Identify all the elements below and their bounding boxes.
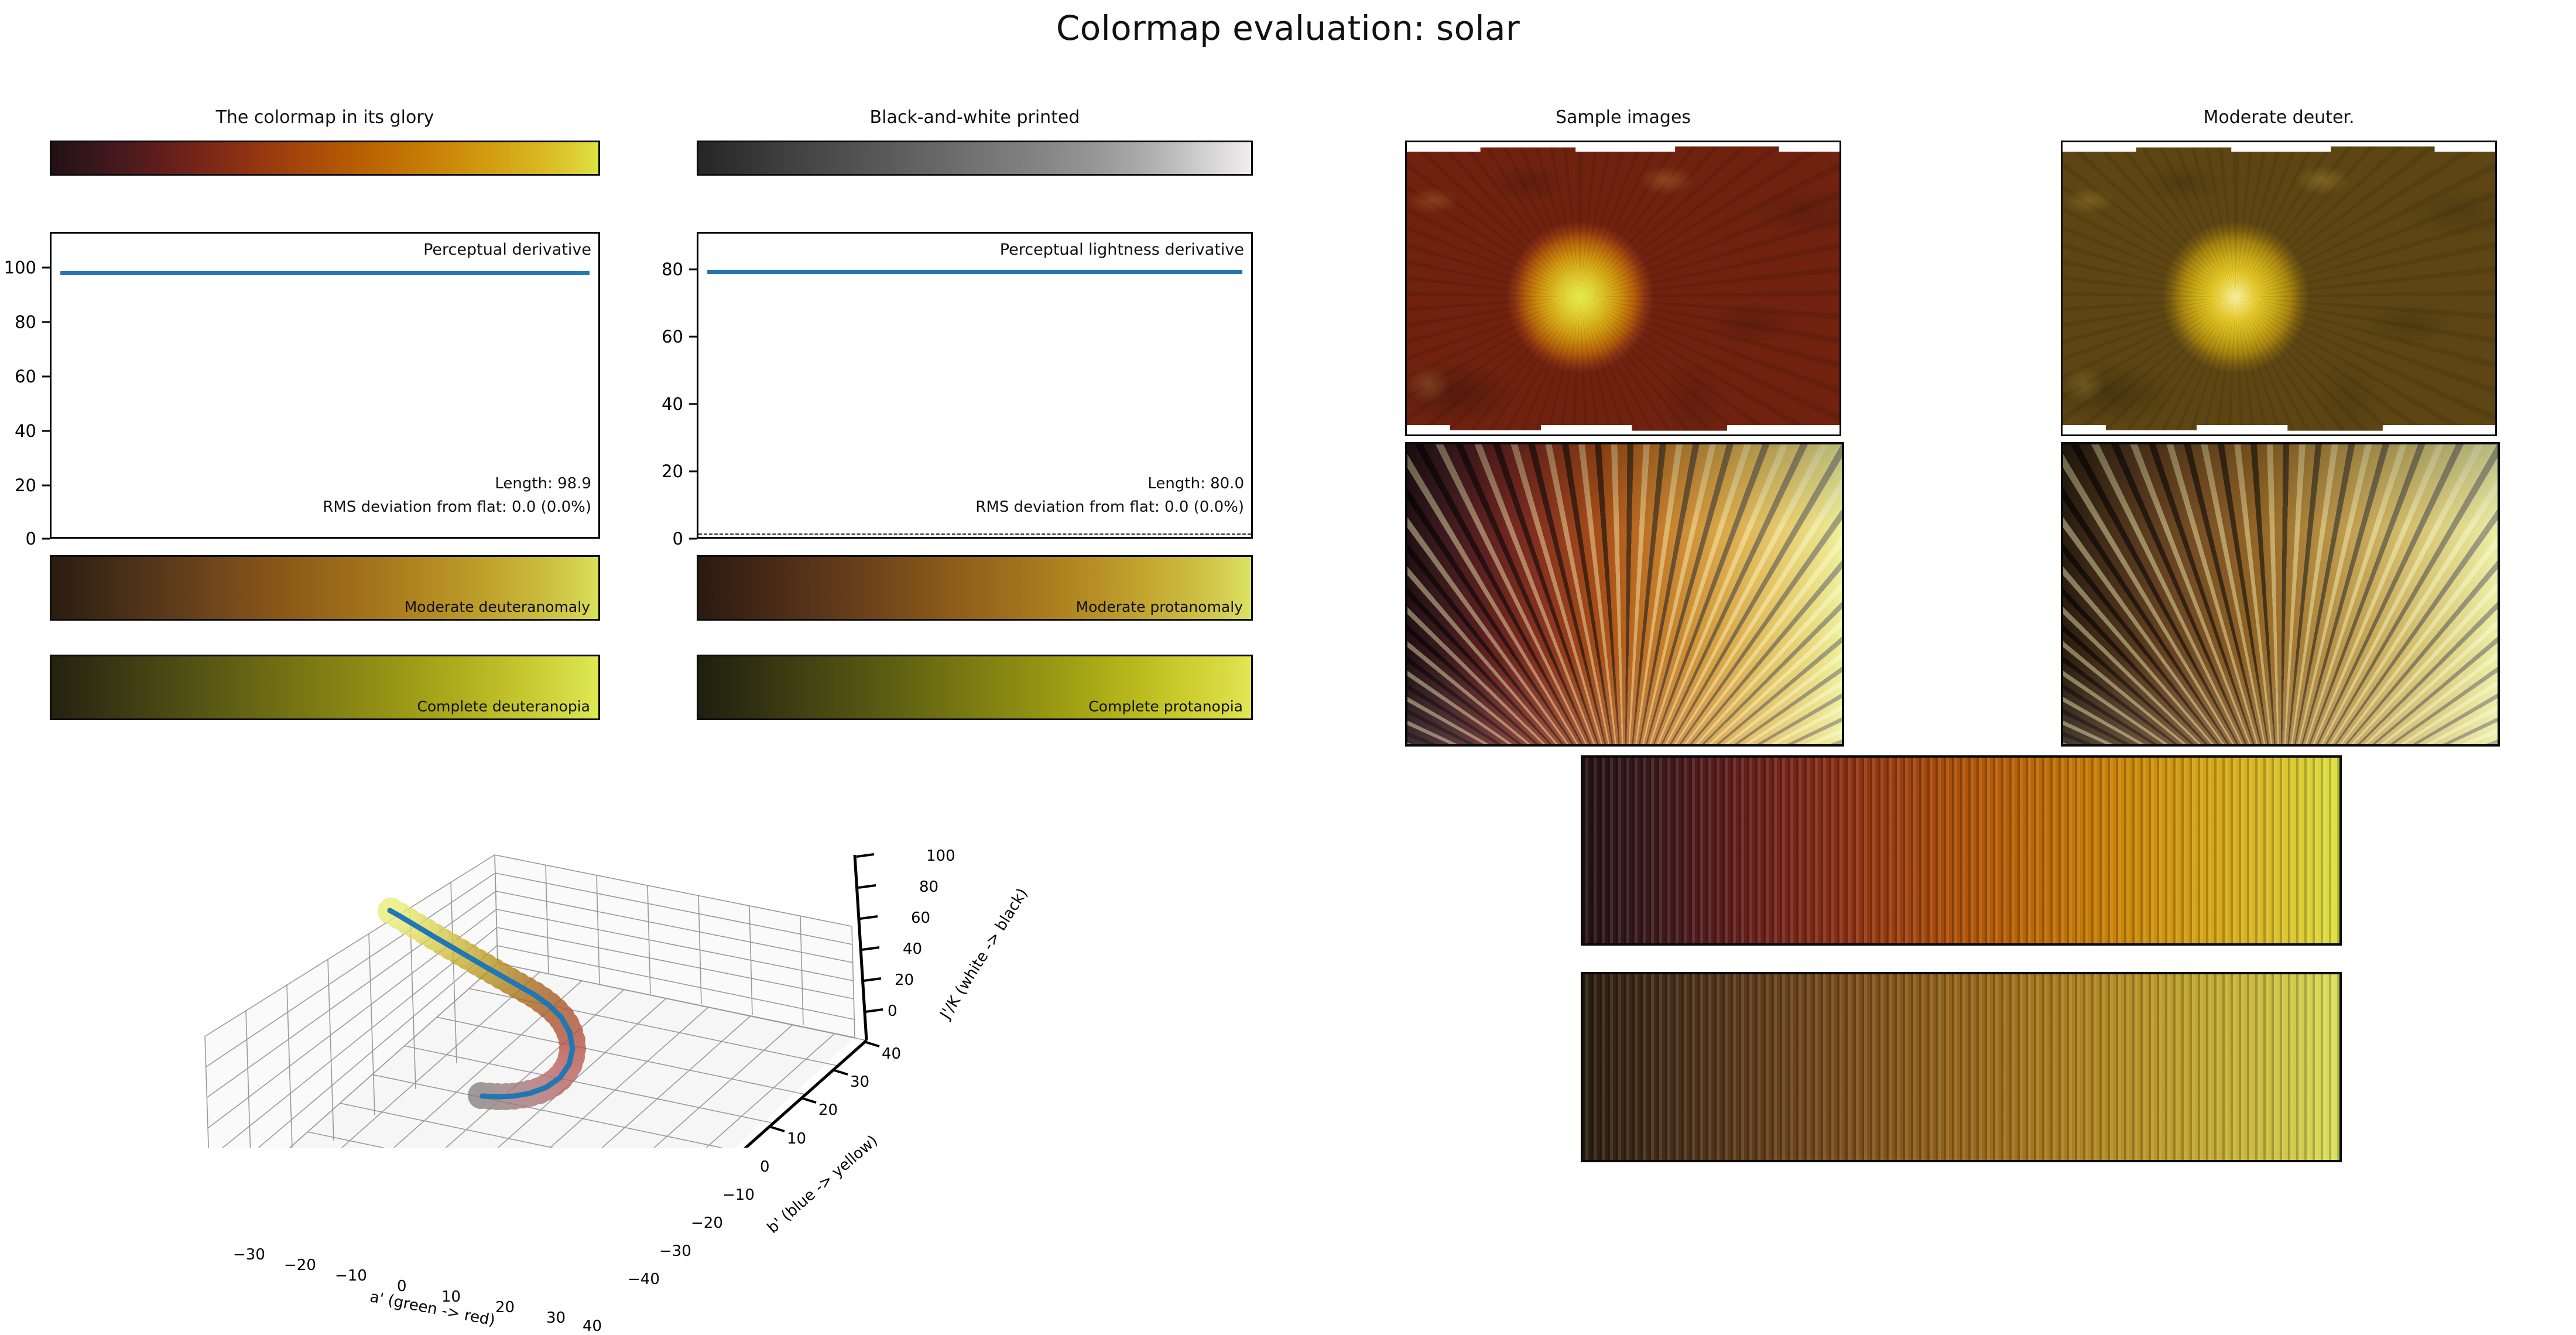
ytick-mark-pld-0 [689, 538, 697, 540]
sample-image-sineramp-solar [1405, 442, 1844, 747]
xtick3-label--30: −30 [233, 1246, 265, 1264]
terrain-highlights-solar [1407, 142, 1839, 434]
panel-title-deuter-samples: Moderate deuter. [2061, 107, 2497, 128]
panel-title-glory: The colormap in its glory [50, 107, 600, 128]
ytick-label-pd-100: 100 [0, 258, 36, 278]
swatch-label-complete-protanopia: Complete protanopia [1088, 698, 1243, 715]
ytick-label-pld-40: 40 [647, 394, 683, 414]
ytick3-label--10: −10 [722, 1186, 755, 1204]
xtick3-label-40: 40 [583, 1317, 602, 1335]
perceptual-lightness-derivative-rms: RMS deviation from flat: 0.0 (0.0%) [975, 498, 1244, 516]
ztick3-label-40: 40 [903, 940, 922, 958]
banding-strip-deuteranomaly [1581, 972, 2342, 1162]
perceptual-lightness-derivative-line [707, 270, 1242, 274]
ytick-mark-pld-20 [689, 471, 697, 473]
ytick-mark-pd-0 [42, 538, 50, 540]
ytick3-label--40: −40 [628, 1271, 660, 1288]
swatch-label-moderate-protanomaly: Moderate protanomaly [1076, 598, 1243, 615]
ytick-mark-pd-40 [42, 430, 50, 432]
banding-strip-solar [1581, 755, 2342, 946]
ytick3-label-30: 30 [850, 1073, 869, 1091]
swatch-moderate-deuteranomaly: Moderate deuteranomaly [50, 555, 600, 621]
ytick-label-pd-40: 40 [0, 421, 36, 441]
terrain-highlights-deuteranomaly [2063, 142, 2495, 434]
swatch-complete-deuteranopia: Complete deuteranopia [50, 655, 600, 720]
perceptual-derivative-length: Length: 98.9 [495, 475, 591, 492]
perceptual-derivative-axes: Perceptual derivative Length: 98.9 RMS d… [50, 232, 600, 539]
ytick3-label-40: 40 [882, 1045, 901, 1063]
ytick-label-pld-60: 60 [647, 327, 683, 347]
xtick3-label-20: 20 [495, 1299, 515, 1316]
perceptual-lightness-derivative-length: Length: 80.0 [1147, 475, 1244, 492]
ztick3-label-80: 80 [919, 878, 938, 896]
swatch-label-complete-deuteranopia: Complete deuteranopia [417, 698, 590, 715]
ytick-mark-pd-100 [42, 267, 50, 269]
ytick-label-pd-0: 0 [0, 529, 36, 549]
zero-baseline [698, 533, 1251, 535]
ytick-label-pd-20: 20 [0, 475, 36, 495]
colormap-swatch-grayscale [697, 141, 1253, 176]
perceptual-derivative-rms: RMS deviation from flat: 0.0 (0.0%) [323, 498, 591, 516]
ytick-mark-pld-40 [689, 403, 697, 405]
figure-title: Colormap evaluation: solar [0, 8, 2576, 48]
ytick3-label-0: 0 [760, 1158, 770, 1176]
panel-title-samples: Sample images [1405, 107, 1841, 128]
ytick-label-pld-80: 80 [647, 259, 683, 279]
sample-image-sineramp-deuteranomaly [2061, 442, 2500, 747]
ztick3-label-100: 100 [926, 847, 955, 865]
ztick3-label-20: 20 [895, 971, 914, 989]
perceptual-lightness-derivative-label: Perceptual lightness derivative [1000, 241, 1244, 259]
ytick-mark-pld-80 [689, 269, 697, 271]
swatch-label-moderate-deuteranomaly: Moderate deuteranomaly [405, 598, 590, 615]
sample-image-terrain-deuteranomaly [2061, 141, 2497, 436]
ytick-label-pld-0: 0 [647, 529, 683, 549]
ytick-label-pld-20: 20 [647, 461, 683, 481]
ytick-mark-pd-60 [42, 376, 50, 378]
ytick-mark-pld-60 [689, 336, 697, 338]
ytick-mark-pd-80 [42, 321, 50, 323]
axis-label-a-prime: a' (green -> red) [368, 1288, 496, 1330]
perceptual-derivative-label: Perceptual derivative [423, 241, 591, 259]
swatch-complete-protanopia: Complete protanopia [697, 655, 1253, 720]
ytick3-label-10: 10 [787, 1130, 806, 1148]
sineramp-vertical-shade-deuteranomaly [2063, 444, 2498, 744]
xtick3-label--20: −20 [284, 1257, 316, 1274]
colormap-swatch-solar [50, 141, 600, 176]
sineramp-vertical-shade-solar [1407, 444, 1842, 744]
axis-label-b-prime: b' (blue -> yellow) [764, 1132, 881, 1237]
ztick3-label-0: 0 [888, 1002, 898, 1020]
perceptual-lightness-derivative-axes: Perceptual lightness derivative Length: … [697, 232, 1253, 539]
xtick3-label--10: −10 [335, 1267, 367, 1285]
colorspace-3d-svg [193, 761, 1265, 1148]
ytick-label-pd-80: 80 [0, 312, 36, 332]
ytick3-label-20: 20 [818, 1101, 838, 1119]
xtick3-label-30: 30 [546, 1309, 566, 1327]
ytick-label-pd-60: 60 [0, 367, 36, 386]
panel-title-bw: Black-and-white printed [697, 107, 1253, 128]
banding-stripes-deuteranomaly [1583, 974, 2339, 1160]
colorspace-3d-axes: −30 −20 −10 0 10 20 30 40 a' (green -> r… [193, 761, 1265, 1148]
ytick3-label--20: −20 [691, 1214, 723, 1232]
perceptual-derivative-line [60, 271, 590, 275]
swatch-moderate-protanomaly: Moderate protanomaly [697, 555, 1253, 621]
xtick3-label-0: 0 [397, 1278, 407, 1295]
ztick3-label-60: 60 [911, 909, 930, 927]
ytick3-label--30: −30 [659, 1242, 691, 1260]
sample-image-terrain-solar [1405, 141, 1841, 436]
banding-stripes-solar [1583, 758, 2339, 943]
ytick-mark-pd-20 [42, 485, 50, 487]
